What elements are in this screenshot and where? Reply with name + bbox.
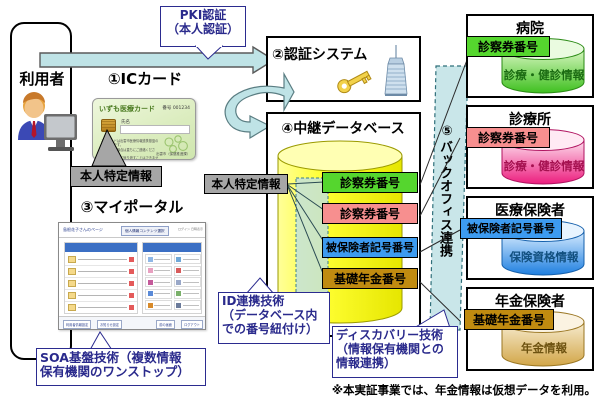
- holder-name-1: 診療所: [466, 109, 594, 129]
- holder-tag-2: 被保険者記号番号: [460, 218, 562, 239]
- portal-panel-left: [64, 242, 138, 314]
- list-item-bar: [183, 282, 199, 283]
- portal-header-meta: ログイン 日時表示: [178, 227, 203, 231]
- list-item-bar: [183, 305, 199, 306]
- step-relay-db-label: ④中継データベース: [268, 118, 418, 138]
- list-item[interactable]: [174, 300, 201, 310]
- ic-card-issuer: 出雲市（保健推進課）: [156, 151, 190, 156]
- list-item[interactable]: [145, 300, 172, 310]
- list-item-bar: [78, 283, 127, 284]
- ic-card-number: 番号 001234: [162, 105, 190, 111]
- list-item[interactable]: [65, 302, 137, 313]
- portal-footer: 利用者情報設定 お知らせ設定 前の画面 ログアウト: [59, 316, 206, 329]
- portal-footer-btn-1[interactable]: 利用者情報設定: [63, 320, 91, 329]
- holder-tag-1: 診察券番号: [466, 127, 550, 148]
- holder-tag-1-label: 診察券番号: [478, 132, 538, 144]
- list-item[interactable]: [65, 290, 137, 302]
- step-ic-card-label: ①ICカード: [90, 68, 200, 89]
- portal-panel-left-title: [65, 243, 137, 252]
- holder-tag-2-label: 被保険者記号番号: [467, 223, 555, 234]
- mail-icon: [68, 268, 76, 275]
- relay-tag-3: 基礎年金番号: [322, 268, 418, 289]
- list-item-bar: [78, 307, 127, 308]
- service-icon: [176, 268, 181, 273]
- service-icon: [176, 257, 181, 262]
- callout-soa-line2: 保有機関のワンストップ）: [40, 365, 202, 379]
- service-icon: [148, 257, 153, 262]
- delete-icon[interactable]: [129, 257, 134, 262]
- db-identity-text: 本人特定情報: [212, 178, 281, 191]
- portal-footer-btn-3[interactable]: 前の画面: [156, 320, 175, 329]
- holder-cyl-label-2: 保険資格情報: [496, 249, 592, 265]
- card-identity-text: 本人特定情報: [80, 170, 152, 183]
- holder-cyl-label-1: 診療・健診情報: [496, 158, 592, 174]
- delete-icon[interactable]: [129, 293, 134, 298]
- list-item-bar: [78, 271, 127, 272]
- ic-card-fineprint: このカードは出雲市医療情報連携基盤の利用者証です。 紛失された場合は直ちにご連絡…: [101, 139, 159, 160]
- db-identity-label: 本人特定情報: [204, 174, 288, 194]
- delete-icon[interactable]: [129, 305, 134, 310]
- callout-discovery-line1: ディスカバリー技術: [336, 329, 454, 343]
- card-identity-label: 本人特定情報: [70, 166, 162, 187]
- callout-pki-line1: PKI認証: [164, 9, 242, 23]
- holder-name-0: 病院: [466, 18, 594, 38]
- diagram-canvas: 利用者 PKI認証 （本人認証） ①ICカード いずも医療カード 番号 0012…: [0, 0, 600, 406]
- list-item[interactable]: [65, 278, 137, 290]
- service-icon: [176, 303, 181, 308]
- list-item-bar: [183, 270, 199, 271]
- callout-id-link-line3: での番号紐付け）: [222, 323, 326, 337]
- step-my-portal-label: ③マイポータル: [62, 196, 202, 217]
- list-item-bar: [154, 259, 170, 260]
- ic-card-name-field: [120, 125, 190, 134]
- ic-card-fineprint-2: 紛失された場合は直ちにご連絡ください。: [101, 148, 159, 157]
- list-item-bar: [183, 293, 199, 294]
- relay-tag-1-label: 診察券番号: [340, 208, 400, 220]
- step-auth-system-label: ②認証システム: [272, 44, 392, 64]
- list-item-bar: [154, 282, 170, 283]
- service-icon: [148, 291, 153, 296]
- callout-soa: SOA基盤技術（複数情報 保有機関のワンストップ）: [36, 348, 206, 386]
- holder-tag-3-label: 基礎年金番号: [473, 314, 545, 326]
- relay-tag-0: 診察券番号: [322, 172, 418, 193]
- mail-icon: [68, 304, 76, 311]
- portal-footer-btn-4[interactable]: ログアウト: [181, 320, 203, 329]
- portal-panel-right: [142, 242, 202, 314]
- list-item[interactable]: [145, 254, 172, 264]
- holder-name-3: 年金保険者: [466, 291, 594, 311]
- callout-soa-line1: SOA基盤技術（複数情報: [40, 351, 202, 365]
- ic-card-fineprint-3: カードはお人に譲り渡すことはできません。: [101, 156, 159, 160]
- holder-cyl-label-3: 年金情報: [496, 340, 592, 356]
- holder-tag-0: 診察券番号: [466, 36, 550, 57]
- callout-pki-tail: [196, 46, 236, 62]
- list-item[interactable]: [174, 254, 201, 264]
- relay-tag-3-label: 基礎年金番号: [334, 273, 406, 285]
- mail-icon: [68, 256, 76, 263]
- holder-tag-3: 基礎年金番号: [464, 309, 554, 330]
- ic-card-title: いずも医療カード: [99, 104, 155, 114]
- callout-id-link-line2: （データベース内: [222, 309, 326, 323]
- portal-panel-left-rows: [65, 254, 137, 313]
- holder-cyl-label-0: 診療・健診情報: [496, 67, 592, 83]
- service-icon: [176, 280, 181, 285]
- list-item[interactable]: [174, 266, 201, 276]
- list-item[interactable]: [145, 289, 172, 299]
- portal-header: 島根花子さんのページ 個人情報コンテンツ選択 ログイン 日時表示: [59, 223, 206, 238]
- list-item-bar: [183, 259, 199, 260]
- portal-panel-right-title: [143, 243, 201, 252]
- callout-discovery: ディスカバリー技術 （情報保有機関との 情報連携）: [332, 326, 458, 378]
- list-item[interactable]: [65, 254, 137, 266]
- ic-card-chip-lines: [101, 119, 116, 132]
- callout-pki-line2: （本人認証）: [164, 23, 242, 37]
- portal-footer-btn-2[interactable]: お知らせ設定: [97, 320, 122, 329]
- callout-discovery-line3: 情報連携）: [336, 357, 454, 371]
- delete-icon[interactable]: [129, 281, 134, 286]
- callout-discovery-line2: （情報保有機関との: [336, 343, 454, 357]
- list-item-bar: [154, 293, 170, 294]
- back-office-number: ⑤: [437, 124, 457, 139]
- list-item[interactable]: [145, 277, 172, 287]
- portal-panel-right-grid: [145, 254, 201, 310]
- list-item[interactable]: [145, 266, 172, 276]
- list-item-bar: [154, 305, 170, 306]
- service-icon: [176, 291, 181, 296]
- relay-tag-2-label: 被保険者記号番号: [326, 242, 414, 253]
- service-icon: [148, 268, 153, 273]
- holder-tag-0-label: 診察券番号: [478, 41, 538, 53]
- portal-header-title: 島根花子さんのページ: [63, 227, 103, 233]
- delete-icon[interactable]: [129, 269, 134, 274]
- list-item[interactable]: [174, 289, 201, 299]
- footnote: ※本実証事業では、年金情報は仮想データを利用。: [332, 382, 596, 398]
- list-item[interactable]: [65, 266, 137, 278]
- mail-icon: [68, 292, 76, 299]
- service-icon: [148, 280, 153, 285]
- list-item[interactable]: [174, 277, 201, 287]
- my-portal-screenshot: 島根花子さんのページ 個人情報コンテンツ選択 ログイン 日時表示: [58, 222, 206, 330]
- service-icon: [148, 303, 153, 308]
- callout-id-link: ID連携技術 （データベース内 での番号紐付け）: [218, 292, 330, 344]
- ic-card-fineprint-1: このカードは出雲市医療情報連携基盤の利用者証です。: [101, 139, 159, 148]
- ic-card: いずも医療カード 番号 001234 氏名 このカードは出雲市医療情報連携基盤の…: [92, 98, 196, 160]
- list-item-bar: [154, 270, 170, 271]
- list-item-bar: [78, 259, 127, 260]
- back-office-label: バックオフィス連携: [438, 140, 451, 300]
- mail-icon: [68, 280, 76, 287]
- holder-name-2: 医療保険者: [466, 200, 594, 220]
- user-label: 利用者: [6, 68, 78, 89]
- relay-tag-0-label: 診察券番号: [340, 177, 400, 189]
- portal-header-button[interactable]: 個人情報コンテンツ選択: [121, 226, 169, 236]
- callout-pki: PKI認証 （本人認証）: [160, 6, 246, 47]
- list-item-bar: [78, 295, 127, 296]
- callout-id-link-line1: ID連携技術: [222, 295, 326, 309]
- relay-tag-2: 被保険者記号番号: [322, 237, 418, 258]
- relay-tag-1: 診察券番号: [322, 203, 418, 224]
